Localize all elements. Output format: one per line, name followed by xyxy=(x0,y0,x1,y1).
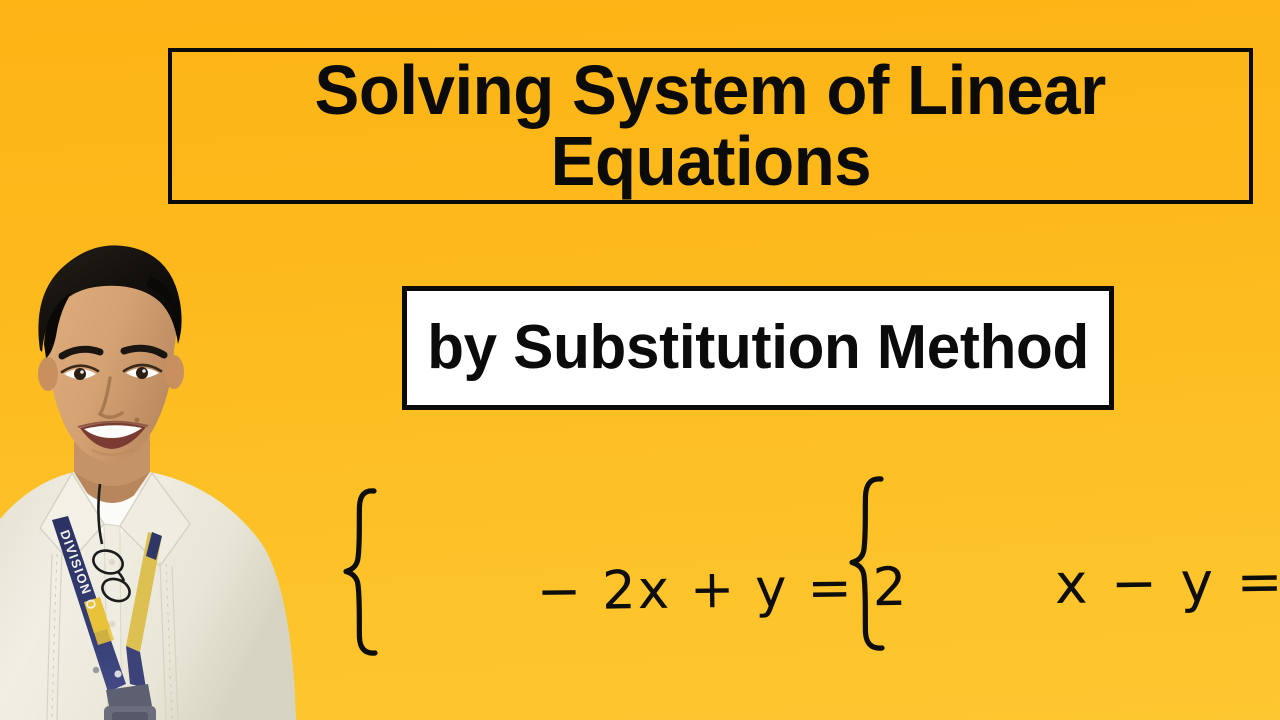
equation-system-left: − 2x + y = 2 − x + y = −1 xyxy=(340,486,919,720)
slide-canvas: Solving System of Linear Equations by Su… xyxy=(0,0,1280,720)
equation-row: − 2x + y = 2 xyxy=(385,483,921,701)
equation-row: 2x + y = 8 xyxy=(890,690,1280,720)
equation-system-right: x − y = 1 2x + y = 8 xyxy=(845,474,1280,720)
equation-row: x − y = 1 xyxy=(890,471,1280,696)
equation-text: x − y = 1 xyxy=(1054,549,1280,617)
title-box: Solving System of Linear Equations xyxy=(168,48,1253,204)
equation-list-right: x − y = 1 2x + y = 8 xyxy=(891,474,1280,720)
shirt-button xyxy=(109,559,115,565)
mole xyxy=(135,418,140,423)
subtitle-text: by Substitution Method xyxy=(427,317,1089,379)
curly-brace-icon xyxy=(845,474,891,720)
shirt-button xyxy=(109,621,115,627)
equation-list-left: − 2x + y = 2 − x + y = −1 xyxy=(386,486,919,720)
presenter-photo: DIVISION O xyxy=(0,232,300,720)
subtitle-box: by Substitution Method xyxy=(402,286,1114,410)
title-line-1: Solving System of Linear xyxy=(315,56,1106,125)
ear-right xyxy=(164,355,184,389)
curly-brace-icon xyxy=(340,486,386,720)
title-line-2: Equations xyxy=(550,127,871,196)
ear-left xyxy=(38,357,58,391)
